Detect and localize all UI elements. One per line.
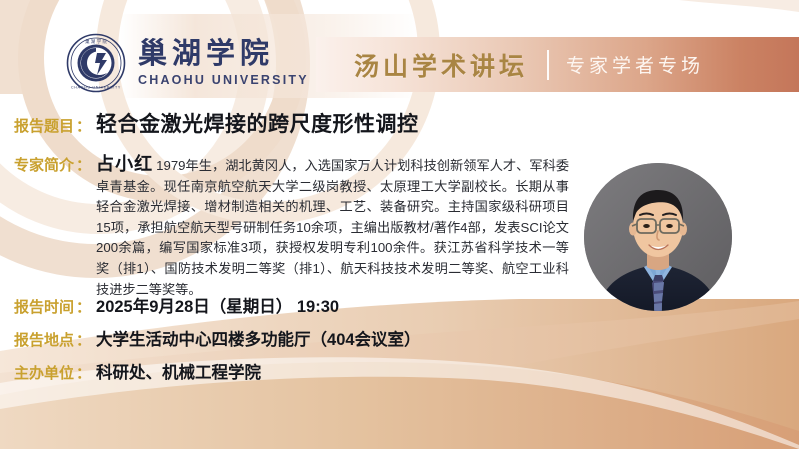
speaker-portrait-image bbox=[584, 163, 732, 311]
speaker-bio-body: 占小红1979年生，湖北黄冈人，入选国家万人计划科技创新领军人才、军科委卓青基金… bbox=[96, 154, 569, 300]
logo-name-en: CHAOHU UNIVERSITY bbox=[138, 74, 309, 87]
report-time-row: 报告时间 ： 2025年9月28日（星期日） 19:30 bbox=[14, 293, 339, 317]
banner-main-title: 汤山学术讲坛 bbox=[354, 47, 528, 83]
poster-canvas: 1977 巢 湖 学 院 CHAOHU UNIVERSITY 巢湖学院 CHAO… bbox=[0, 0, 799, 449]
report-place-row: 报告地点 ： 大学生活动中心四楼多功能厅（404会议室） bbox=[14, 326, 421, 350]
university-logo: 1977 巢 湖 学 院 CHAOHU UNIVERSITY 巢湖学院 CHAO… bbox=[66, 33, 309, 93]
report-title-value: 轻合金激光焊接的跨尺度形性调控 bbox=[96, 108, 419, 138]
top-right-decor bbox=[499, 0, 799, 40]
svg-text:CHAOHU UNIVERSITY: CHAOHU UNIVERSITY bbox=[71, 86, 121, 90]
report-time-value: 2025年9月28日（星期日） 19:30 bbox=[96, 293, 339, 317]
host-org-row: 主办单位 ： 科研处、机械工程学院 bbox=[14, 359, 261, 383]
report-time-label: 报告时间 bbox=[14, 296, 74, 317]
speaker-name: 占小红 bbox=[96, 154, 153, 174]
speaker-bio-label: 专家简介 bbox=[14, 154, 74, 175]
report-title-colon: ： bbox=[74, 115, 93, 136]
host-org-value: 科研处、机械工程学院 bbox=[96, 359, 261, 383]
header-banner: 汤山学术讲坛 专家学者专场 bbox=[316, 37, 799, 92]
report-title-row: 报告题目 ： 轻合金激光焊接的跨尺度形性调控 bbox=[14, 108, 419, 138]
speaker-bio-text: 1979年生，湖北黄冈人，入选国家万人计划科技创新领军人才、军科委卓青基金。现任… bbox=[96, 158, 569, 297]
banner-divider bbox=[547, 50, 549, 80]
speaker-portrait bbox=[584, 163, 732, 311]
report-time-colon: ： bbox=[74, 296, 93, 317]
svg-text:1977: 1977 bbox=[92, 63, 99, 67]
report-title-label: 报告题目 bbox=[14, 115, 74, 136]
chaohu-university-seal-icon: 1977 巢 湖 学 院 CHAOHU UNIVERSITY bbox=[66, 33, 126, 93]
svg-text:巢 湖 学 院: 巢 湖 学 院 bbox=[85, 38, 107, 45]
report-place-label: 报告地点 bbox=[14, 329, 74, 350]
logo-name-cn: 巢湖学院 bbox=[138, 39, 309, 68]
speaker-bio-row: 专家简介 ： 占小红1979年生，湖北黄冈人，入选国家万人计划科技创新领军人才、… bbox=[14, 154, 569, 300]
host-org-colon: ： bbox=[74, 362, 93, 383]
speaker-bio-colon: ： bbox=[74, 154, 93, 175]
host-org-label: 主办单位 bbox=[14, 362, 74, 383]
corner-block-decor bbox=[0, 0, 34, 94]
banner-subtitle: 专家学者专场 bbox=[566, 51, 704, 78]
report-place-value: 大学生活动中心四楼多功能厅（404会议室） bbox=[96, 326, 421, 350]
report-place-colon: ： bbox=[74, 329, 93, 350]
